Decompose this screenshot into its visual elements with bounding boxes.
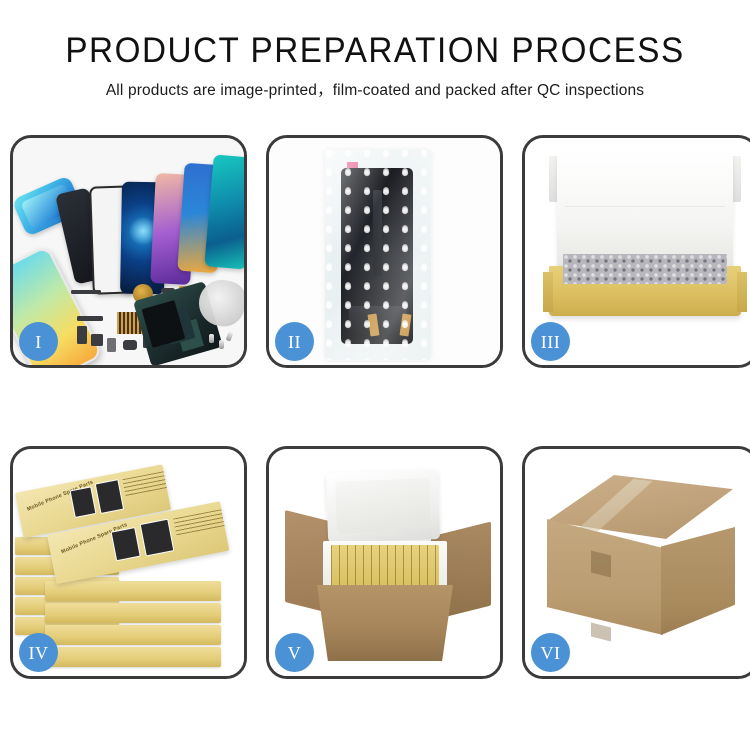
tray-flap-left (543, 272, 553, 312)
step-panel-2: II (266, 135, 503, 368)
carton-seam-patch (591, 551, 611, 578)
foam-box-lid (326, 469, 440, 543)
step-badge-3: III (531, 322, 570, 361)
step-badge-1: I (19, 322, 58, 361)
lid-spec-text (122, 470, 171, 497)
step-badge-6: VI (531, 633, 570, 672)
step-panel-6: VI (522, 446, 750, 679)
step-panel-3: III (522, 135, 750, 368)
lid-phone-graphic (140, 519, 174, 557)
step-panel-4: Mobile Phone Spare Parts Mobile Phone Sp… (10, 446, 247, 679)
lid-phone-graphic (111, 527, 141, 561)
carton-side-face (661, 527, 735, 635)
lcd-screen (341, 168, 413, 344)
step-badge-4: IV (19, 633, 58, 672)
step-panel-1: I (10, 135, 247, 368)
lid-phone-graphic (70, 487, 96, 518)
yellow-box-tray (549, 266, 741, 316)
step-badge-5: V (275, 633, 314, 672)
flex-cable (400, 313, 412, 336)
carton-front-face (547, 519, 663, 635)
screw-icon (209, 334, 214, 343)
page-title: PRODUCT PREPARATION PROCESS (19, 30, 732, 72)
packed-grey-items (563, 254, 727, 284)
step-panel-5: V (266, 446, 503, 679)
header: PRODUCT PREPARATION PROCESS All products… (0, 0, 750, 101)
process-steps-grid: I II (10, 135, 740, 687)
step-badge-2: II (275, 322, 314, 361)
screw-icon (226, 331, 234, 341)
lid-spec-text (173, 507, 229, 537)
carton-seam-patch (591, 623, 611, 642)
lid-phone-graphic (94, 479, 124, 514)
carton-body (317, 585, 453, 661)
yellow-boxes-inside (331, 545, 439, 589)
page-subtitle: All products are image-printed，film-coat… (0, 81, 750, 101)
qc-sticker (347, 162, 358, 168)
tray-flap-right (737, 272, 747, 312)
screw-icon (219, 340, 224, 349)
product-preparation-infographic: PRODUCT PREPARATION PROCESS All products… (0, 0, 750, 750)
bubble-wrap-bag (325, 150, 431, 360)
